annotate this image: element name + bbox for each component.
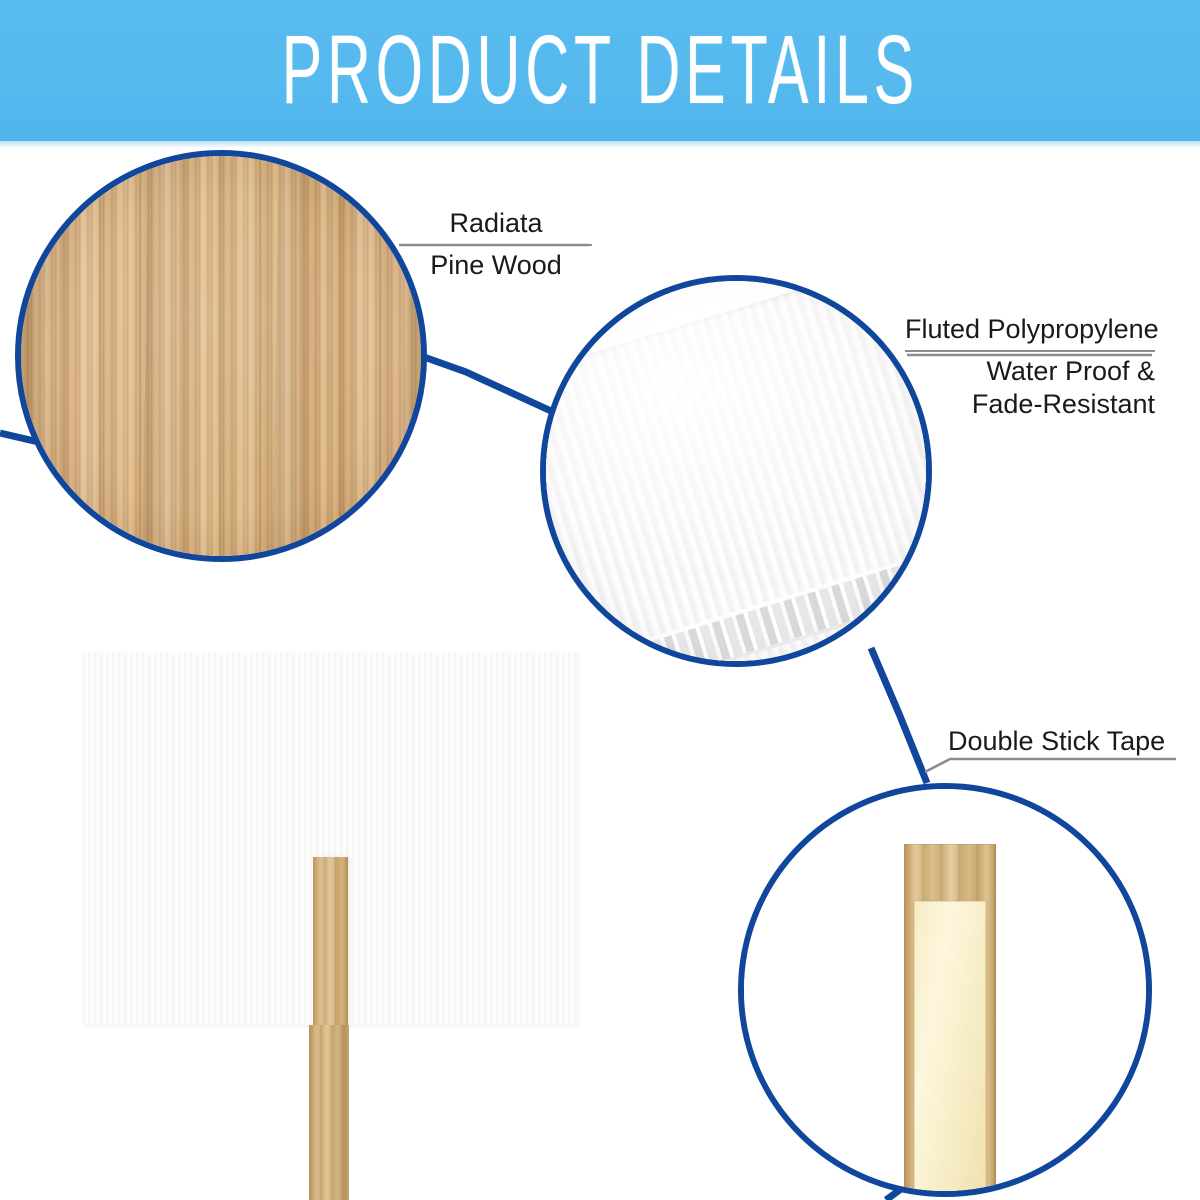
page-title: PRODUCT DETAILS [281,22,918,119]
callout-title: Radiata [400,207,592,240]
wood-grain-macro-icon [19,154,423,558]
product-stake-lower-segment [309,1025,349,1200]
callout-title: Fluted Polypropylene [905,313,1155,346]
callout-subtitle-line-2: Fade-Resistant [905,388,1155,421]
connector-wood-to-fluted [424,357,562,416]
detail-circle-fluted-polypropylene[interactable] [540,275,932,667]
circle-vignette [546,281,926,661]
product-stake-upper-segment [313,857,348,1025]
callout-rule [400,244,592,246]
callout-title: Double Stick Tape [948,725,1176,758]
header-banner: PRODUCT DETAILS [0,0,1200,141]
callout-rule [905,350,1155,352]
connector-fluted-to-tape [871,648,927,783]
callout-fluted-polypropylene: Fluted Polypropylene Water Proof & Fade-… [905,313,1155,421]
detail-circle-radiata-pine-wood[interactable] [15,150,427,562]
callout-subtitle-line-1: Water Proof & [905,355,1155,388]
detail-circle-double-stick-tape[interactable] [738,783,1152,1197]
callout-subtitle: Pine Wood [400,249,592,282]
infographic-canvas: PRODUCT DETAILS Radiata Pine Wood [0,0,1200,1200]
callout-double-stick-tape: Double Stick Tape [948,725,1176,758]
callout-radiata-pine-wood: Radiata Pine Wood [400,207,592,282]
leader-tape [925,759,1176,772]
double-stick-tape-strip-icon [914,901,986,1197]
